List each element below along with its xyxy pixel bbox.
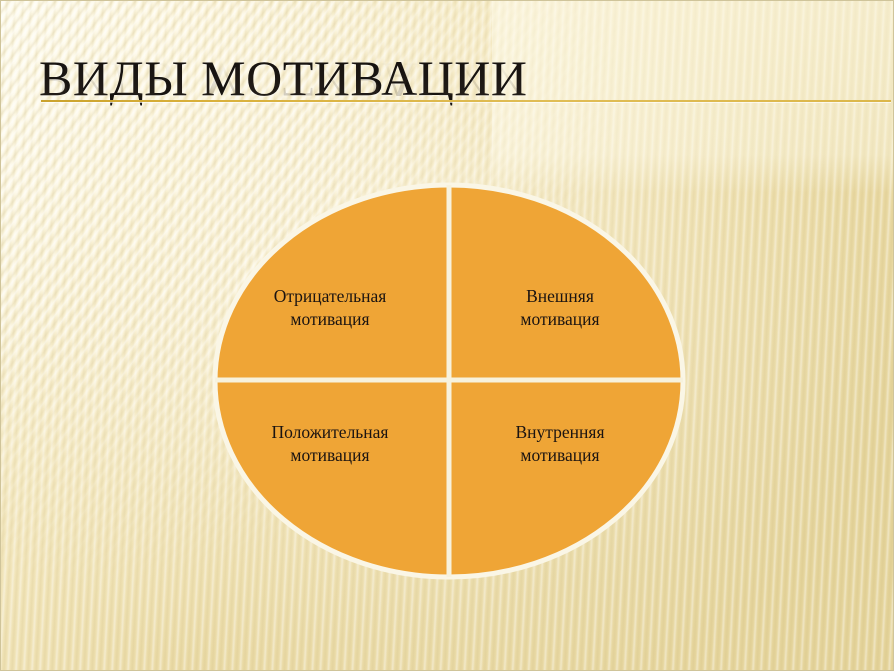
- quadrant-label-bottom-left-line2: мотивация: [290, 445, 369, 465]
- quadrant-label-bottom-left-line1: Положительная: [272, 422, 389, 442]
- quadrant-label-bottom-right-line1: Внутренняя: [516, 422, 605, 442]
- quadrant-label-top-right-line2: мотивация: [520, 309, 599, 329]
- motivation-quadrant-diagram: Отрицательная мотивация Внешняя мотиваци…: [212, 182, 686, 580]
- quadrant-label-bottom-right: Внутренняя мотивация: [460, 421, 660, 467]
- slide-title-block: ВИДЫ МОТИВАЦИИ ВИДЫ МОТИВАЦИИ: [39, 53, 859, 153]
- quadrant-label-bottom-left: Положительная мотивация: [230, 421, 430, 467]
- slide-title: ВИДЫ МОТИВАЦИИ: [39, 53, 528, 103]
- title-underline-highlight: [41, 102, 891, 103]
- quadrant-label-top-left: Отрицательная мотивация: [230, 285, 430, 331]
- quadrant-label-bottom-right-line2: мотивация: [520, 445, 599, 465]
- quadrant-label-top-right: Внешняя мотивация: [460, 285, 660, 331]
- quadrant-label-top-left-line2: мотивация: [290, 309, 369, 329]
- presentation-slide: ВИДЫ МОТИВАЦИИ ВИДЫ МОТИВАЦИИ Отрицатель…: [0, 0, 894, 671]
- quadrant-circle-graphic: [212, 182, 686, 580]
- quadrant-label-top-left-line1: Отрицательная: [274, 286, 387, 306]
- quadrant-label-top-right-line1: Внешняя: [526, 286, 594, 306]
